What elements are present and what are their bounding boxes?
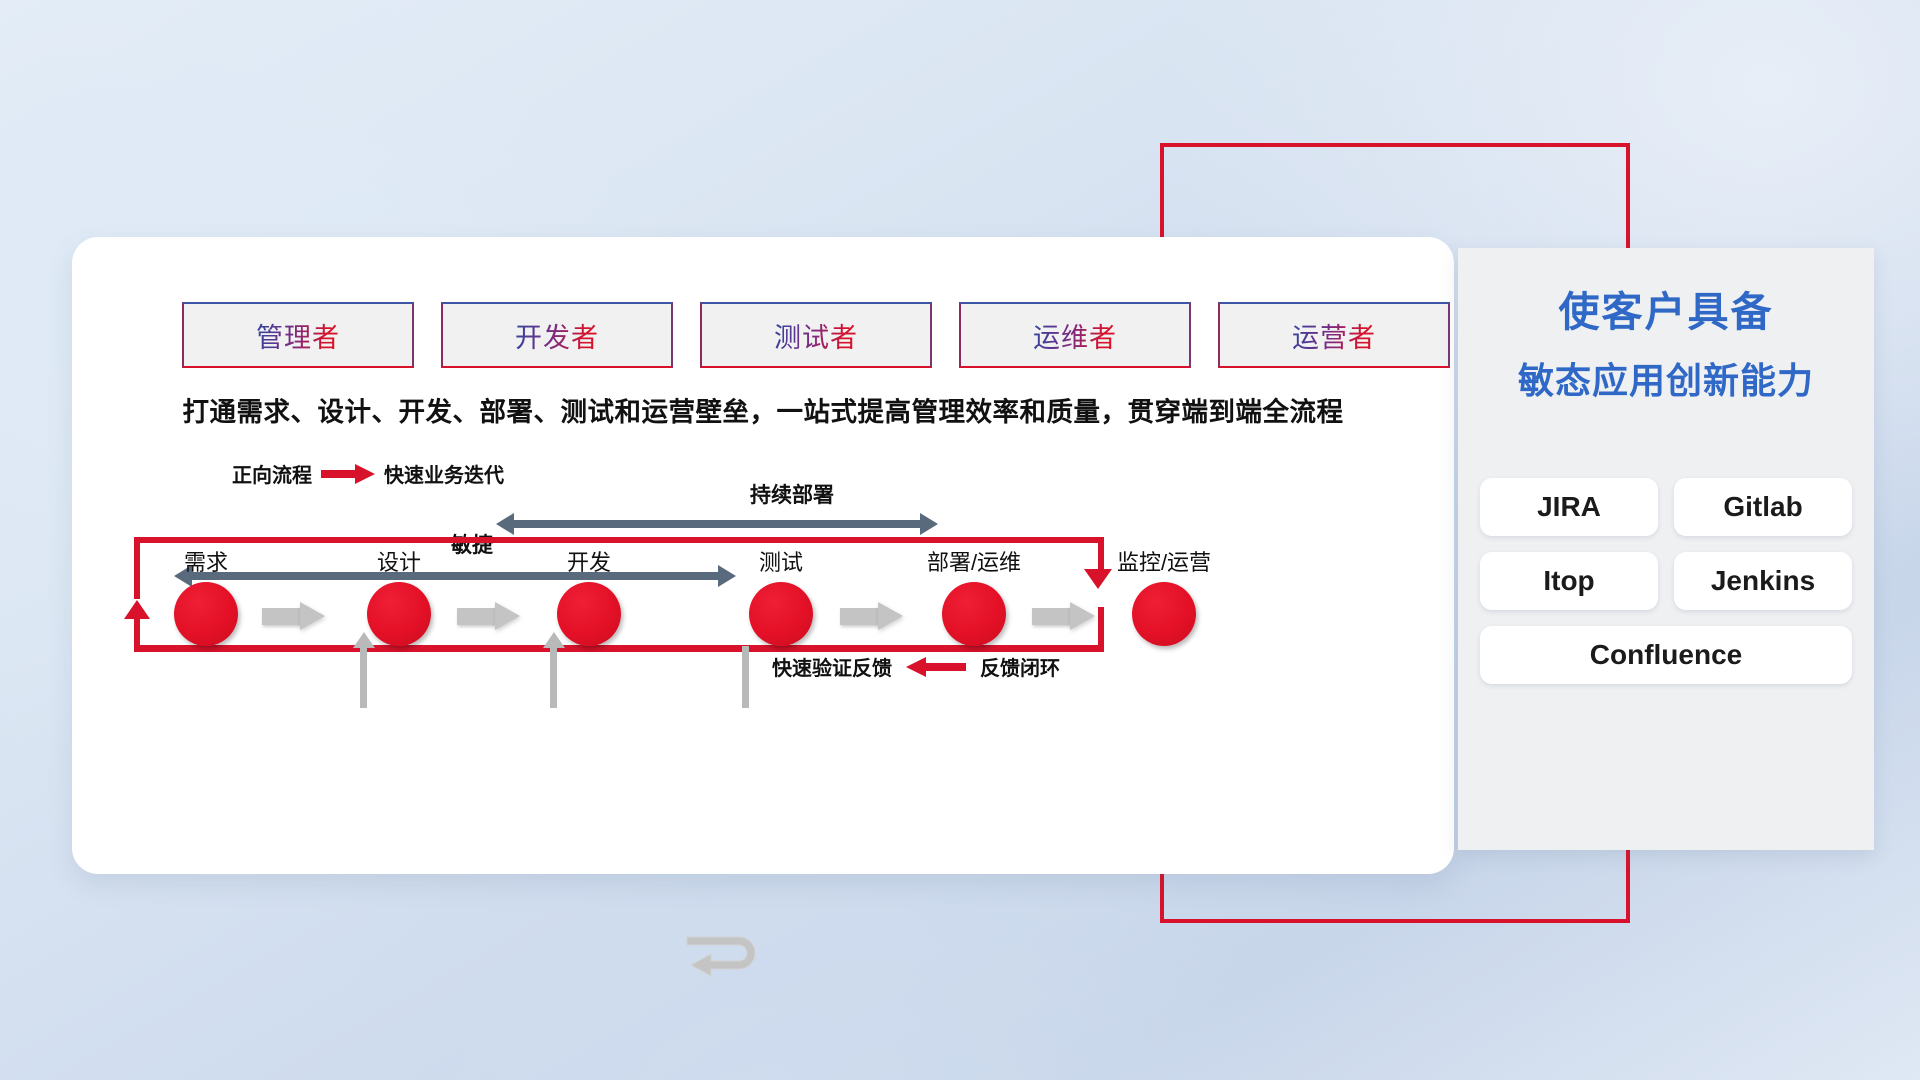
node-dot [942,582,1006,646]
node-dot [1132,582,1196,646]
feedback-loop-top-rail [134,537,1104,543]
pipeline-arrow-4-icon [1032,602,1096,630]
arrow-head-icon [878,602,903,630]
legend-feedback-loop: 快速验证反馈 反馈闭环 [772,652,1060,681]
pipeline-node-requirements[interactable]: 需求 [174,582,238,646]
arrow-head-icon [495,602,520,630]
tool-chip-grid: JIRA Gitlab Itop Jenkins Confluence [1480,478,1852,684]
tool-chip-confluence[interactable]: Confluence [1480,626,1852,684]
pipeline-node-label: 测试 [759,545,803,577]
legend-feedback-source-label: 快速验证反馈 [772,652,892,681]
role-chip-business-operator[interactable]: 运营者 [1218,302,1450,368]
pipeline-node-testing[interactable]: 测试 [749,582,813,646]
role-chip-label: 运营者 [1292,316,1376,355]
arrow-right-red-icon [321,464,375,484]
outcome-title-line-1: 使客户具备 [1458,278,1874,338]
arrow-shaft [188,572,722,580]
role-chip-tester[interactable]: 测试者 [700,302,932,368]
arrow-head-right-icon [920,513,938,535]
arrow-shaft [262,608,302,625]
legend-forward-target-label: 快速业务迭代 [384,459,504,488]
description-text: 打通需求、设计、开发、部署、测试和运营壁垒，一站式提高管理效率和质量，贯穿端到端… [72,390,1454,429]
role-chip-label: 管理者 [256,316,340,355]
pipeline-node-label: 部署/运维 [927,545,1021,577]
pipeline-arrow-3-icon [840,602,904,630]
pipeline-node-label: 监控/运营 [1117,545,1211,577]
tool-chip-jenkins[interactable]: Jenkins [1674,552,1852,610]
pipeline-node-design[interactable]: 设计 [367,582,431,646]
outer-bracket-top [1160,143,1630,147]
role-chip-label: 测试者 [774,316,858,355]
pipeline-node-label: 开发 [567,545,611,577]
tool-chip-itop[interactable]: Itop [1480,552,1658,610]
outcome-title-line-2: 敏态应用创新能力 [1458,352,1874,404]
outer-bracket-bottom [1160,919,1630,923]
arrow-shaft [510,520,924,528]
tool-chip-jira[interactable]: JIRA [1480,478,1658,536]
outcome-panel-title: 使客户具备 敏态应用创新能力 [1458,278,1874,404]
arrow-head-icon [1070,602,1095,630]
legend-forward-source-label: 正向流程 [232,459,312,488]
arrow-shaft [840,608,880,625]
tool-chip-gitlab[interactable]: Gitlab [1674,478,1852,536]
node-dot [749,582,813,646]
role-chip-label: 运维者 [1033,316,1117,355]
role-chip-operations-engineer[interactable]: 运维者 [959,302,1191,368]
pipeline-node-label: 需求 [184,545,228,577]
pipeline-node-development[interactable]: 开发 [557,582,621,646]
pipeline-arrow-1-icon [262,602,326,630]
rework-loop-icon [685,927,777,989]
outcome-panel: 使客户具备 敏态应用创新能力 JIRA Gitlab Itop Jenkins … [1458,248,1874,850]
double-arrow-continuous-deployment-icon [496,513,938,535]
pipeline-node-deploy-ops[interactable]: 部署/运维 [942,582,1006,646]
role-chip-row: 管理者 开发者 测试者 运维者 运营者 [182,302,1450,368]
role-chip-developer[interactable]: 开发者 [441,302,673,368]
pipeline-arrow-2-icon [457,602,521,630]
role-chip-label: 开发者 [515,316,599,355]
arrow-head-icon [300,602,325,630]
node-dot [367,582,431,646]
role-chip-manager[interactable]: 管理者 [182,302,414,368]
slide-canvas: 管理者 开发者 测试者 运维者 运营者 打通需求、设计、开发、部署、测试和运营壁… [0,0,1920,1080]
arrow-left-red-icon [906,657,966,677]
legend-forward-flow: 正向流程 快速业务迭代 [232,459,504,488]
arrow-shaft [457,608,497,625]
node-connector-test [742,646,749,708]
node-dot [557,582,621,646]
main-content-card: 管理者 开发者 测试者 运维者 运营者 打通需求、设计、开发、部署、测试和运营壁… [72,237,1454,874]
legend-feedback-target-label: 反馈闭环 [980,652,1060,681]
node-dot [174,582,238,646]
pipeline-node-monitor-operate[interactable]: 监控/运营 [1132,582,1196,646]
pipeline-node-label: 设计 [377,545,421,577]
node-connector-design [360,646,367,708]
span-label-continuous-deployment: 持续部署 [642,479,942,509]
arrow-shaft [1032,608,1072,625]
node-connector-develop [550,646,557,708]
